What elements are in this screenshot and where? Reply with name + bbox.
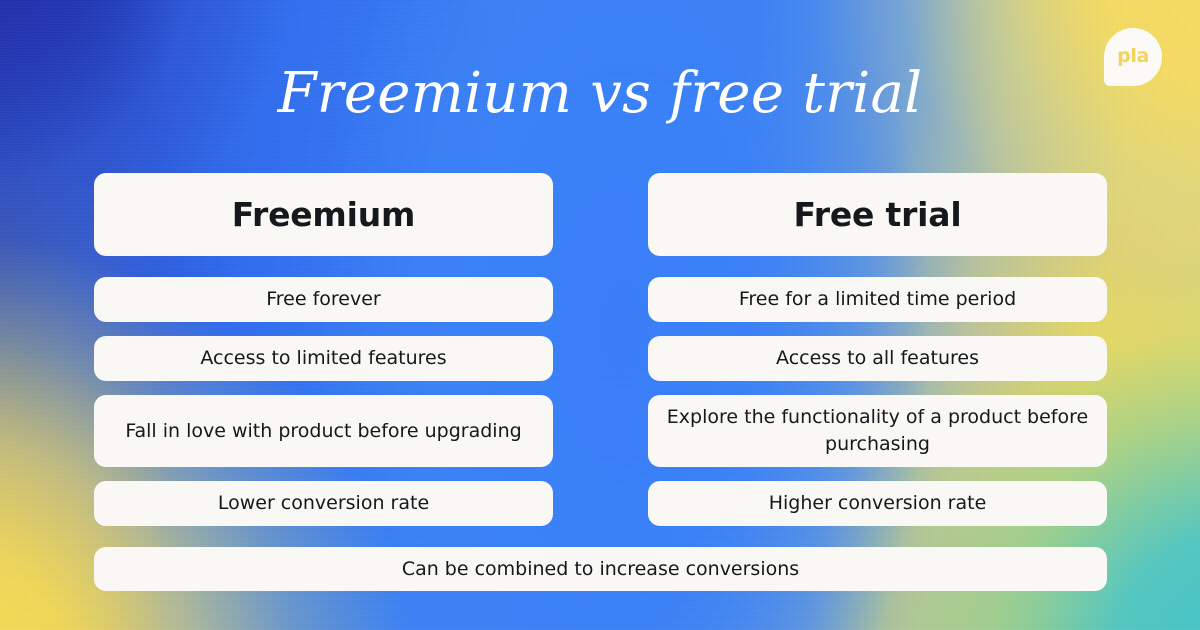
- column-freemium: Freemium Free forever Access to limited …: [94, 173, 553, 526]
- footer-row-combined: Can be combined to increase conversions: [94, 547, 1107, 591]
- list-item: Higher conversion rate: [648, 481, 1107, 526]
- content-root: pla Freemium vs free trial Freemium Free…: [0, 0, 1200, 630]
- list-item: Free for a limited time period: [648, 277, 1107, 322]
- infographic-canvas: pla Freemium vs free trial Freemium Free…: [0, 0, 1200, 630]
- list-item: Free forever: [94, 277, 553, 322]
- column-heading-freemium: Freemium: [94, 173, 553, 256]
- comparison-grid: Freemium Free forever Access to limited …: [94, 173, 1107, 591]
- column-free-trial: Free trial Free for a limited time perio…: [648, 173, 1107, 526]
- comparison-columns: Freemium Free forever Access to limited …: [94, 173, 1107, 526]
- list-item: Explore the functionality of a product b…: [648, 395, 1107, 467]
- list-item: Lower conversion rate: [94, 481, 553, 526]
- column-heading-free-trial: Free trial: [648, 173, 1107, 256]
- list-item: Access to all features: [648, 336, 1107, 381]
- list-item: Access to limited features: [94, 336, 553, 381]
- list-item: Fall in love with product before upgradi…: [94, 395, 553, 467]
- page-title: Freemium vs free trial: [0, 56, 1200, 132]
